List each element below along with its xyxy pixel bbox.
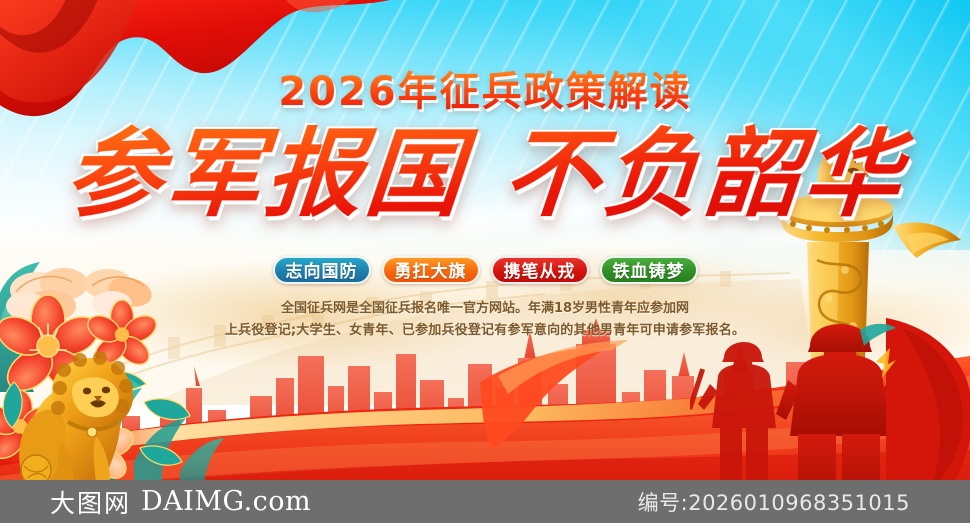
badge-tiexuezhumeng[interactable]: 铁血铸梦 [600, 256, 698, 284]
poster-subtitle: 2026年征兵政策解读 [0, 68, 970, 116]
badge-xiebicongrong[interactable]: 携笔从戎 [491, 256, 589, 284]
body-line-1: 全国征兵网是全国征兵报名唯一官方网站。年满18岁男性青年应参加网 [0, 298, 970, 320]
main-title-right: 不负韶华 [499, 117, 909, 230]
poster-body-text: 全国征兵网是全国征兵报名唯一官方网站。年满18岁男性青年应参加网 上兵役登记;大… [0, 298, 970, 342]
watermark-bar: 大图网 DAIMG.com 编号:2026010968351015 [0, 480, 970, 523]
brand-name-en: DAIMG.com [141, 486, 311, 517]
body-line-2: 上兵役登记;大学生、女青年、已参加兵役登记有参军意向的其他男青年可申请参军报名。 [0, 320, 970, 342]
brand-name-cn: 大图网 [50, 484, 131, 520]
badge-yongkangdaqi[interactable]: 勇扛大旗 [382, 256, 480, 284]
image-id-label: 编号:2026010968351015 [638, 480, 910, 523]
badge-zhixiangguofang[interactable]: 志向国防 [273, 256, 371, 284]
slogan-badge-row: 志向国防 勇扛大旗 携笔从戎 铁血铸梦 [0, 256, 970, 284]
main-title-left: 参军报国 [61, 117, 471, 230]
poster-main-title: 参军报国不负韶华 [0, 118, 970, 230]
poster-canvas: 2026年征兵政策解读 参军报国不负韶华 志向国防 勇扛大旗 携笔从戎 铁血铸梦… [0, 0, 970, 523]
watermark-brand: 大图网 DAIMG.com [50, 480, 311, 523]
left-decoration [0, 252, 244, 505]
